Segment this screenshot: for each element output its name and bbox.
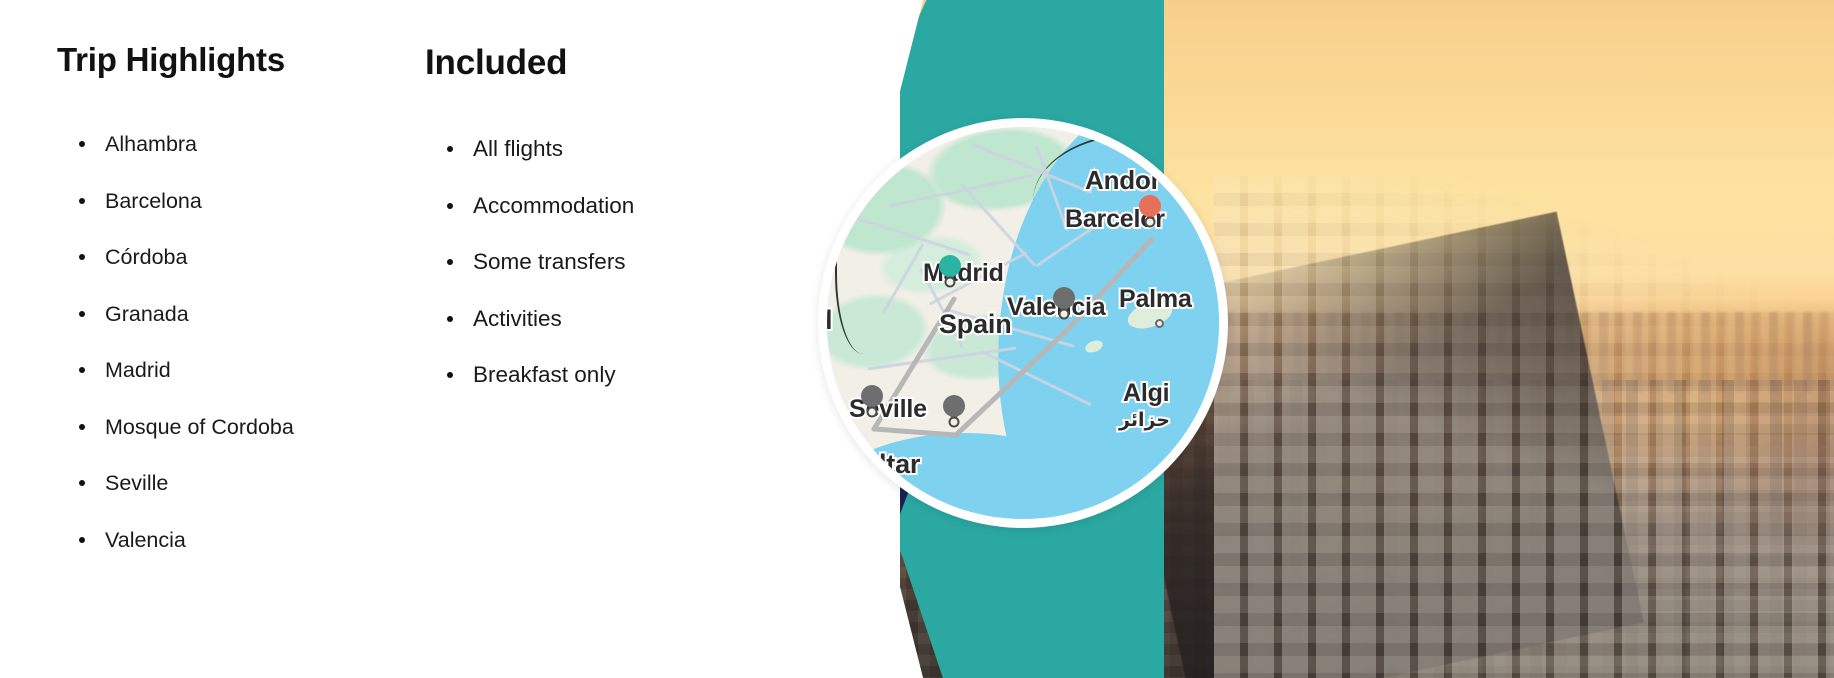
- list-item: Córdoba: [79, 229, 457, 286]
- map-label-algeria-arabic: حزائر حزائر: [1119, 409, 1170, 431]
- building-facades: [1214, 176, 1834, 678]
- map-city-dot-palma: [1155, 319, 1164, 328]
- map-label-madrid: Madrid Madrid: [923, 259, 1004, 288]
- bullet-dot-icon: [79, 424, 85, 430]
- list-item-label: Madrid: [79, 342, 171, 399]
- list-item: Barcelona: [79, 173, 457, 230]
- map-label-palma: Palma Palma: [1119, 285, 1192, 314]
- bullet-dot-icon: [447, 146, 453, 152]
- list-item-label: Valencia: [79, 512, 186, 569]
- bullet-dot-icon: [79, 367, 85, 373]
- list-item: Activities: [447, 291, 845, 348]
- bullet-dot-icon: [79, 141, 85, 147]
- list-item: Madrid: [79, 342, 457, 399]
- trip-highlights-column: Trip Highlights Alhambra Barcelona Córdo…: [57, 0, 457, 568]
- list-item-label: Barcelona: [79, 173, 202, 230]
- bullet-dot-icon: [79, 254, 85, 260]
- included-list: All flights Accommodation Some transfers…: [447, 121, 845, 404]
- list-item: Valencia: [79, 512, 457, 569]
- pin-anchor-dot: [1059, 309, 1070, 320]
- list-item: Alhambra: [79, 116, 457, 173]
- bullet-dot-icon: [447, 316, 453, 322]
- map-pin-valencia[interactable]: [1053, 287, 1075, 317]
- map-label-algeria: Algi Algi: [1123, 379, 1169, 408]
- map-pin-granada[interactable]: [943, 395, 965, 425]
- map-canvas[interactable]: Andor Andor Barcelor Barcelor Madrid Mad…: [827, 127, 1219, 519]
- pin-anchor-dot: [945, 277, 956, 288]
- list-item: Some transfers: [447, 234, 845, 291]
- map-label-portugal: l l: [827, 305, 832, 336]
- bullet-dot-icon: [447, 259, 453, 265]
- map-pin-barcelona[interactable]: [1139, 195, 1161, 225]
- list-item: Accommodation: [447, 178, 845, 235]
- pin-anchor-dot: [1145, 217, 1156, 228]
- bullet-dot-icon: [447, 203, 453, 209]
- map-pin-seville[interactable]: [861, 385, 883, 415]
- list-item-label: Mosque of Cordoba: [79, 399, 294, 456]
- list-item-label: Córdoba: [79, 229, 187, 286]
- list-item-label: Seville: [79, 455, 168, 512]
- trip-highlights-heading: Trip Highlights: [57, 41, 457, 79]
- list-item-label: Accommodation: [447, 178, 634, 235]
- bullet-dot-icon: [79, 480, 85, 486]
- bullet-dot-icon: [79, 537, 85, 543]
- included-heading: Included: [425, 43, 845, 83]
- list-item-label: All flights: [447, 121, 563, 178]
- map-pin-madrid[interactable]: [939, 255, 961, 285]
- map-label-andorra: Andor Andor: [1085, 165, 1161, 196]
- list-item: All flights: [447, 121, 845, 178]
- list-item: Mosque of Cordoba: [79, 399, 457, 456]
- trip-highlights-list: Alhambra Barcelona Córdoba Granada Madri…: [79, 116, 457, 568]
- bullet-dot-icon: [79, 198, 85, 204]
- list-item: Breakfast only: [447, 347, 845, 404]
- included-column: Included All flights Accommodation Some …: [425, 0, 845, 404]
- list-item: Seville: [79, 455, 457, 512]
- bullet-dot-icon: [79, 311, 85, 317]
- list-item-label: Breakfast only: [447, 347, 616, 404]
- map-label-gibraltar: ltar ltar: [879, 449, 920, 480]
- list-item-label: Alhambra: [79, 116, 197, 173]
- list-item: Granada: [79, 286, 457, 343]
- pin-anchor-dot: [949, 417, 960, 428]
- list-item-label: Some transfers: [447, 234, 626, 291]
- pin-anchor-dot: [867, 407, 878, 418]
- info-panel: Trip Highlights Alhambra Barcelona Córdo…: [0, 0, 900, 678]
- bullet-dot-icon: [447, 372, 453, 378]
- map-inset[interactable]: Andor Andor Barcelor Barcelor Madrid Mad…: [818, 118, 1228, 528]
- list-item-label: Granada: [79, 286, 189, 343]
- list-item-label: Activities: [447, 291, 562, 348]
- map-label-spain: Spain Spain: [939, 309, 1012, 340]
